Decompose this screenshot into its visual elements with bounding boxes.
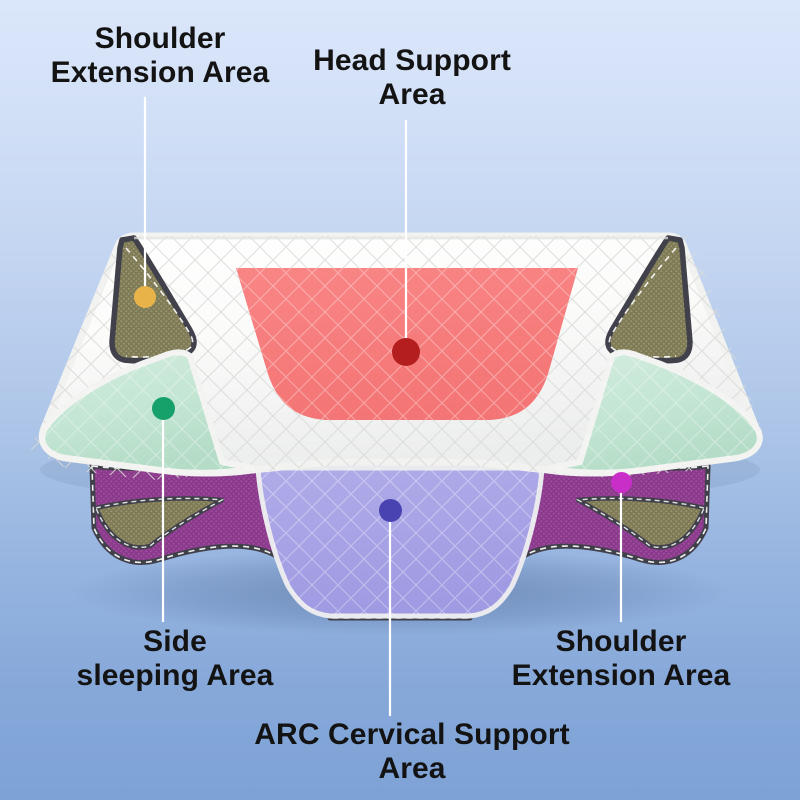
label-head-support: Head Support Area [276, 44, 548, 112]
label-side-sleeping: Side sleeping Area [50, 625, 300, 693]
callout-line-head-support [405, 120, 407, 352]
marker-dot-arc-cervical [379, 499, 402, 522]
marker-dot-shoulder-extension-right [611, 472, 632, 493]
callout-line-shoulder-extension-right [620, 486, 622, 622]
marker-dot-head-support [392, 338, 420, 366]
marker-dot-shoulder-extension-left [134, 286, 156, 308]
infographic-canvas: Shoulder Extension Area Head Support Are… [0, 0, 800, 800]
label-shoulder-extension-left: Shoulder Extension Area [26, 22, 294, 90]
callout-line-side-sleeping [162, 412, 164, 622]
callout-line-arc-cervical [389, 514, 391, 716]
marker-dot-side-sleeping [152, 397, 175, 420]
callout-line-shoulder-extension-left [144, 97, 146, 297]
label-arc-cervical: ARC Cervical Support Area [236, 718, 588, 786]
label-shoulder-extension-right: Shoulder Extension Area [478, 625, 764, 693]
